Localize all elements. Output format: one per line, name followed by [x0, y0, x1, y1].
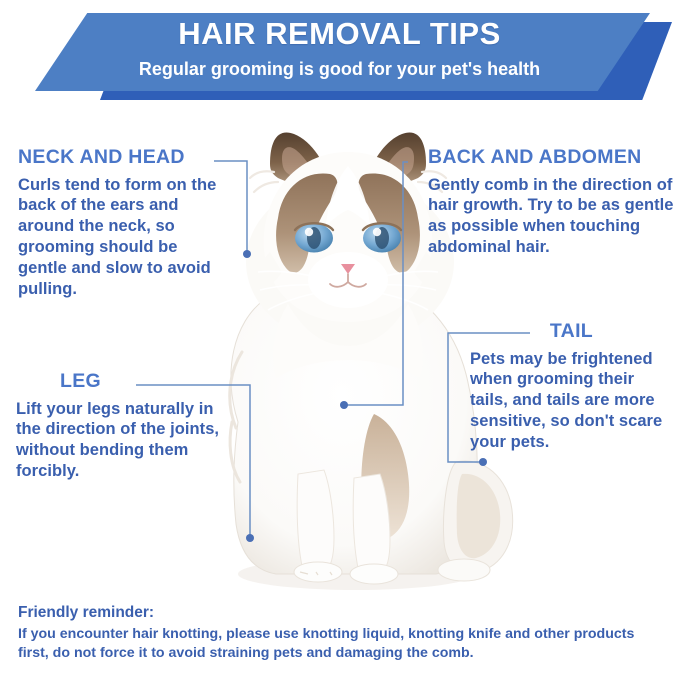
infographic-root: HAIR REMOVAL TIPS Regular grooming is go…: [0, 0, 679, 679]
page-title: HAIR REMOVAL TIPS: [178, 18, 501, 49]
callout-title-back-and-abdomen: BACK AND ABDOMEN: [428, 148, 678, 168]
callout-body-tail: Pets may be frightened when grooming the…: [470, 349, 675, 454]
callout-body-back-and-abdomen: Gently comb in the direction of hair gro…: [428, 175, 678, 259]
friendly-reminder-line-2: first, do not force it to avoid strainin…: [18, 644, 663, 663]
callout-back-and-abdomen: BACK AND ABDOMEN Gently comb in the dire…: [428, 148, 678, 258]
callout-tail: TAIL Pets may be frightened when groomin…: [470, 322, 675, 453]
header-banner: HAIR REMOVAL TIPS Regular grooming is go…: [0, 0, 679, 112]
callout-body-leg: Lift your legs naturally in the directio…: [16, 399, 231, 483]
friendly-reminder-line-1: If you encounter hair knotting, please u…: [18, 625, 663, 644]
friendly-reminder: Friendly reminder: If you encounter hair…: [18, 604, 663, 663]
friendly-reminder-title: Friendly reminder:: [18, 604, 663, 623]
callout-leg: LEG Lift your legs naturally in the dire…: [16, 372, 231, 482]
callout-title-leg: LEG: [16, 372, 231, 392]
callout-title-neck-and-head: NECK AND HEAD: [18, 148, 228, 168]
banner-text-group: HAIR REMOVAL TIPS Regular grooming is go…: [0, 0, 679, 112]
page-subtitle: Regular grooming is good for your pet's …: [139, 60, 540, 78]
callout-title-tail: TAIL: [470, 322, 675, 342]
callout-body-neck-and-head: Curls tend to form on the back of the ea…: [18, 175, 228, 301]
callout-neck-and-head: NECK AND HEAD Curls tend to form on the …: [18, 148, 228, 300]
